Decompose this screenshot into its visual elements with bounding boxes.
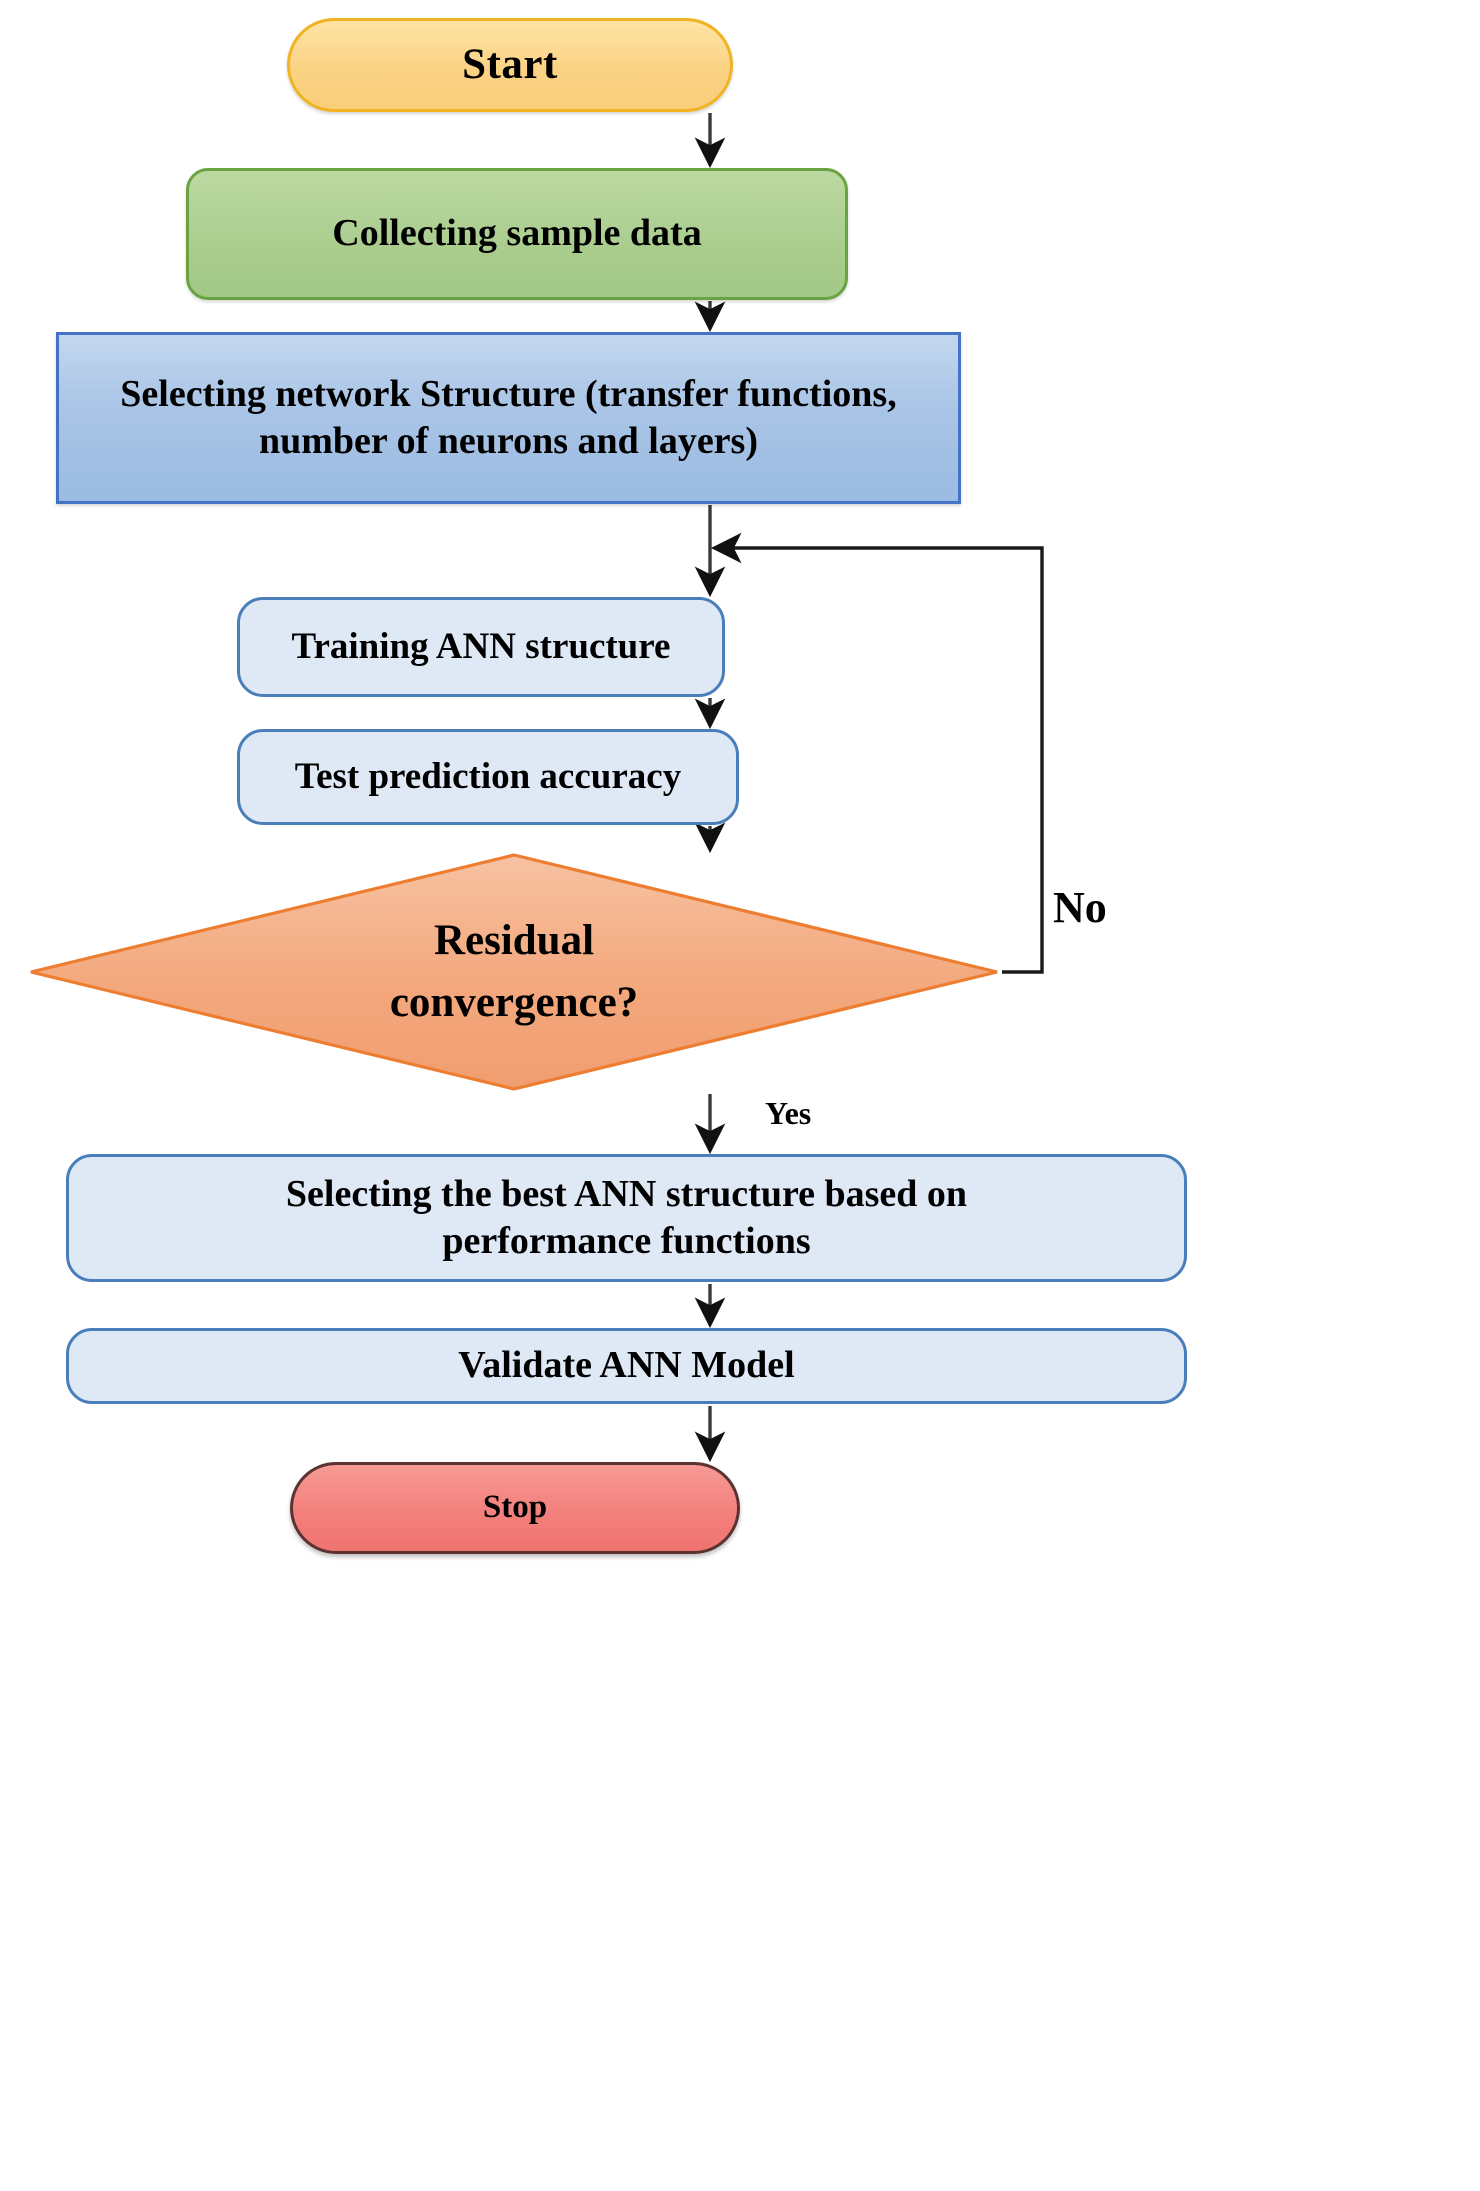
flowchart-canvas: Start Collecting sample data Selecting n… <box>0 0 1480 2191</box>
node-collecting-sample-data[interactable]: Collecting sample data <box>186 168 848 300</box>
connector-layer <box>0 0 1480 2191</box>
node-validate-ann-model[interactable]: Validate ANN Model <box>66 1328 1187 1404</box>
node-start[interactable]: Start <box>287 18 733 112</box>
node-stop-label: Stop <box>293 1487 737 1528</box>
node-selecting-network-structure[interactable]: Selecting network Structure (transfer fu… <box>56 332 961 504</box>
node-collecting-sample-data-label: Collecting sample data <box>189 210 845 258</box>
edge-label-no: No <box>1053 882 1107 933</box>
node-selecting-best-ann-structure[interactable]: Selecting the best ANN structure based o… <box>66 1154 1187 1282</box>
node-residual-convergence-decision-label: Residual convergence? <box>28 910 1000 1035</box>
node-residual-convergence-decision[interactable]: Residual convergence? <box>28 852 1000 1092</box>
node-training-ann-structure[interactable]: Training ANN structure <box>237 597 725 697</box>
node-selecting-network-structure-label: Selecting network Structure (transfer fu… <box>59 371 958 466</box>
node-test-prediction-accuracy[interactable]: Test prediction accuracy <box>237 729 739 825</box>
node-stop[interactable]: Stop <box>290 1462 740 1554</box>
node-training-ann-structure-label: Training ANN structure <box>240 624 722 670</box>
node-selecting-best-ann-structure-label: Selecting the best ANN structure based o… <box>69 1171 1184 1266</box>
edge-label-yes: Yes <box>765 1095 811 1132</box>
node-start-label: Start <box>290 38 730 92</box>
node-test-prediction-accuracy-label: Test prediction accuracy <box>240 754 736 800</box>
node-validate-ann-model-label: Validate ANN Model <box>69 1342 1184 1390</box>
